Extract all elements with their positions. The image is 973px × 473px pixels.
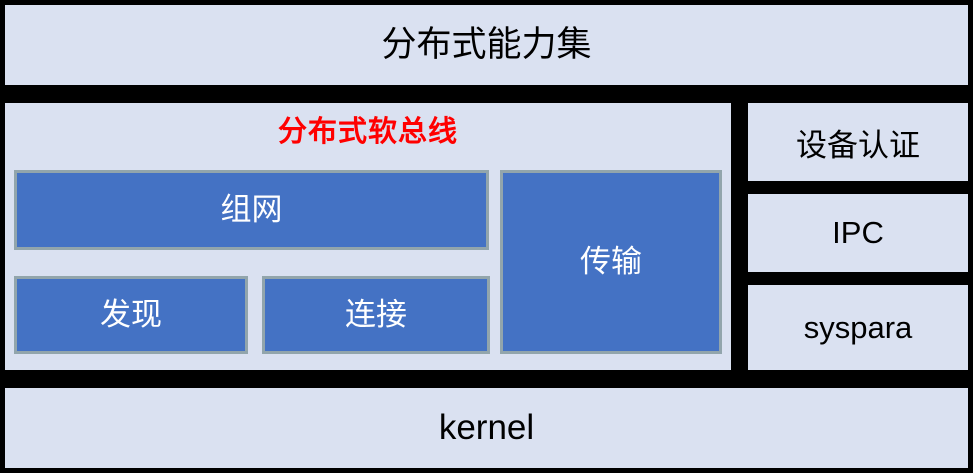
capability-set-banner: 分布式能力集	[5, 5, 968, 85]
module-networking-label: 组网	[221, 193, 283, 227]
service-ipc: IPC	[748, 194, 968, 272]
distributed-softbus-panel: 分布式软总线 组网 发现 连接 传输	[5, 103, 731, 370]
module-transmission-label: 传输	[580, 245, 642, 279]
right-service-column: 设备认证 IPC syspara	[748, 103, 968, 370]
distributed-softbus-title: 分布式软总线	[5, 117, 731, 149]
service-ipc-label: IPC	[832, 215, 884, 251]
module-discovery-label: 发现	[100, 298, 162, 332]
kernel-label: kernel	[439, 409, 534, 448]
module-discovery: 发现	[14, 276, 248, 354]
module-connection: 连接	[262, 276, 490, 354]
kernel-banner: kernel	[5, 388, 968, 468]
module-networking: 组网	[14, 170, 489, 250]
module-transmission: 传输	[500, 170, 722, 354]
service-device-auth: 设备认证	[748, 103, 968, 181]
module-connection-label: 连接	[345, 298, 407, 332]
service-syspara-label: syspara	[804, 310, 913, 346]
service-syspara: syspara	[748, 285, 968, 370]
architecture-diagram: 分布式能力集 分布式软总线 组网 发现 连接 传输 设备认证 IPC syspa…	[0, 0, 973, 473]
service-device-auth-label: 设备认证	[796, 120, 920, 165]
capability-set-label: 分布式能力集	[381, 26, 591, 65]
